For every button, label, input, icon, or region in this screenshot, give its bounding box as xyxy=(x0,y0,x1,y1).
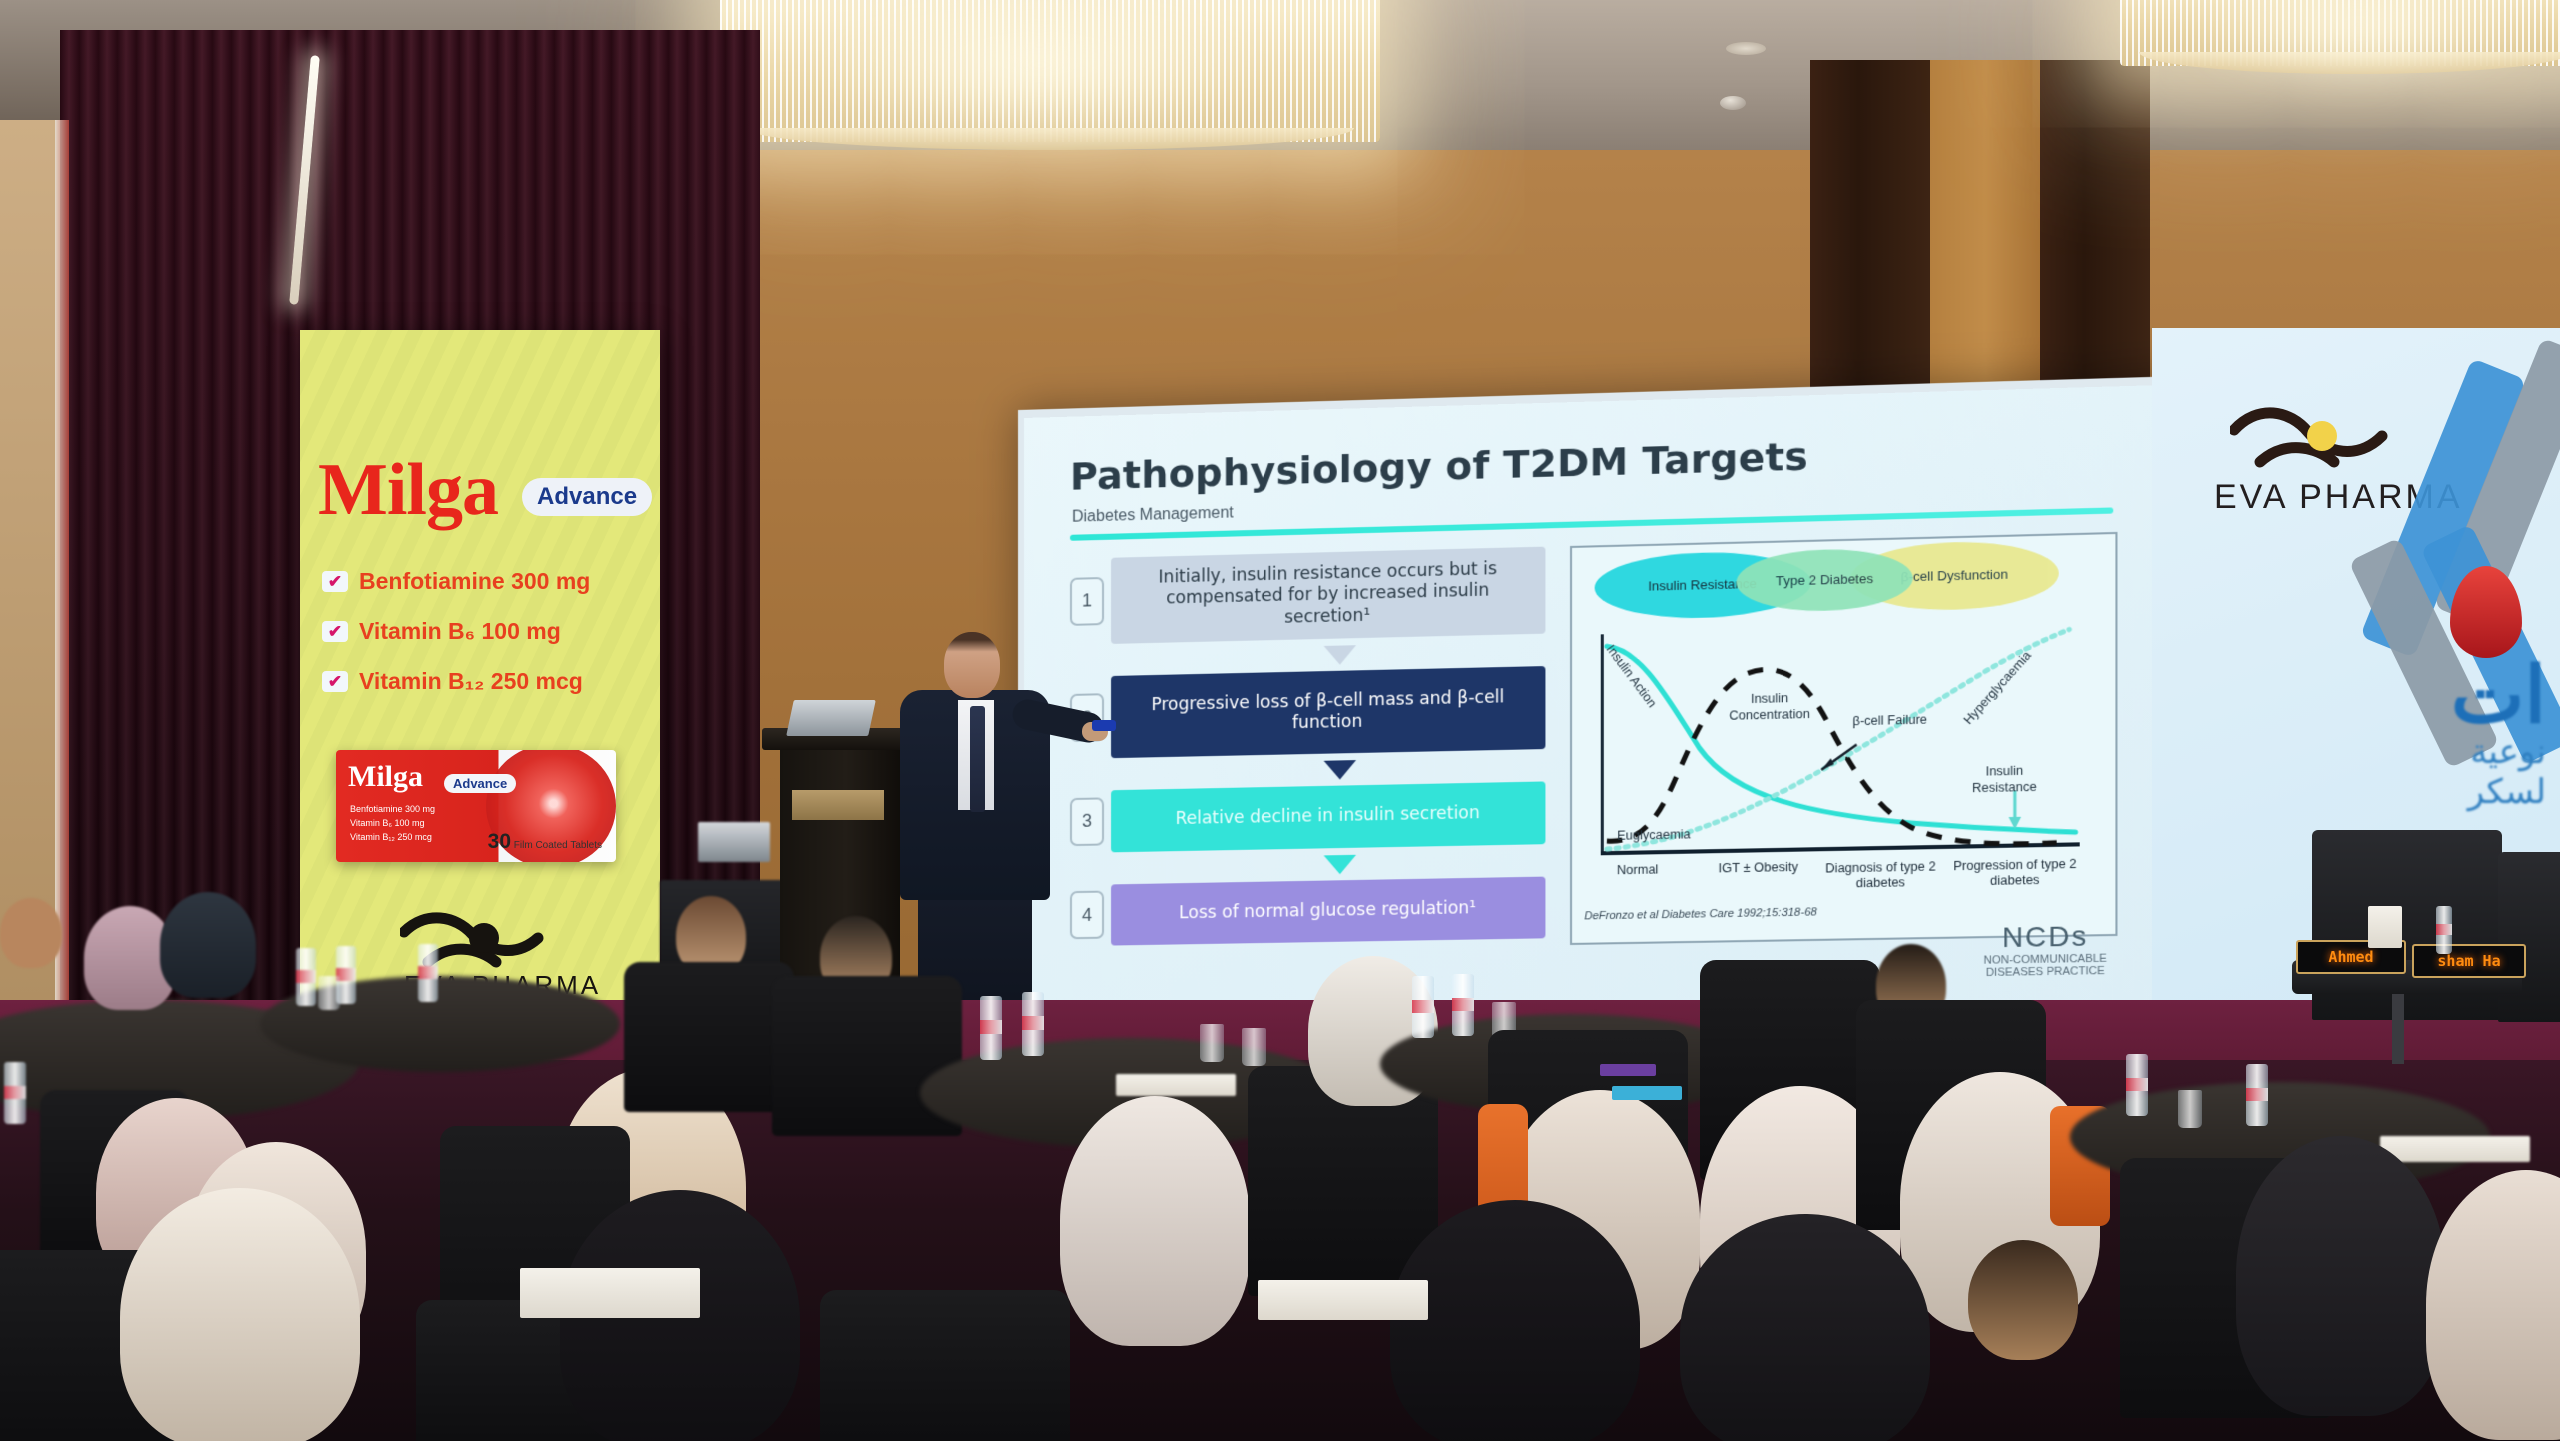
step-number-3: 3 xyxy=(1070,797,1104,846)
chart-curves xyxy=(1601,619,2082,855)
water-glass-5 xyxy=(2178,1090,2202,1128)
ncds-tagline-2: DISEASES PRACTICE xyxy=(1986,965,2105,979)
check-icon-1: ✔ xyxy=(322,571,348,592)
arabic-headline: ات نوعية لسكر xyxy=(2451,658,2546,812)
flow-step-2: 2 Progressive loss of β-cell mass and β-… xyxy=(1070,666,1545,759)
attendee-hijab-front-4 xyxy=(1680,1214,1930,1441)
smoke-detector-icon-2 xyxy=(1720,96,1746,110)
slide-title: Pathophysiology of T2DM Targets xyxy=(1070,434,1808,499)
water-glass-3 xyxy=(1242,1028,1266,1066)
panel-chair-2 xyxy=(2498,852,2560,1022)
x-tick-diagnosis: Diagnosis of type 2 diabetes xyxy=(1823,859,1937,892)
water-bottle-7 xyxy=(1412,976,1434,1038)
pack-line-3: Vitamin B₁₂ 250 mcg xyxy=(350,832,432,842)
ingredient-row-2: ✔ Vitamin B₆ 100 mg xyxy=(322,618,561,645)
flow-arrow-2 xyxy=(1324,760,1356,780)
presenter-tie xyxy=(970,706,985,812)
handout-paper-1 xyxy=(520,1268,700,1318)
panel-table-leg xyxy=(2392,994,2404,1064)
notepad-3 xyxy=(2380,1136,2530,1162)
ingredient-row-3: ✔ Vitamin B₁₂ 250 mcg xyxy=(322,668,583,695)
water-bottle-5 xyxy=(980,996,1002,1060)
water-bottle-10 xyxy=(2246,1064,2268,1126)
ingredient-text-2: Vitamin B₆ 100 mg xyxy=(359,618,561,645)
water-bottle-2 xyxy=(296,948,316,1006)
x-tick-progression: Progression of type 2 diabetes xyxy=(1952,857,2077,890)
ingredient-text-3: Vitamin B₁₂ 250 mcg xyxy=(359,668,583,695)
arabic-line-3: لسكر xyxy=(2451,772,2546,812)
presenter-remote xyxy=(1092,720,1116,731)
audience-chair-front-3 xyxy=(820,1290,1070,1441)
milga-product-pack: Milga Advance Benfotiamine 300 mg Vitami… xyxy=(336,750,616,862)
handout-paper-2 xyxy=(1258,1280,1428,1320)
panel-water-bottle xyxy=(2436,906,2452,954)
notepad-1 xyxy=(1116,1074,1236,1096)
audience-chair-3 xyxy=(624,962,794,1112)
water-bottle-8 xyxy=(1452,974,1474,1036)
ncds-wordmark: NCDs xyxy=(1984,920,2107,955)
flow-arrow-3 xyxy=(1324,854,1356,874)
baseline-label-euglycaemia: Euglycaemia xyxy=(1617,827,1691,843)
water-glass-1 xyxy=(318,976,340,1010)
flow-step-1: 1 Initially, insulin resistance occurs b… xyxy=(1070,547,1545,645)
presenter-head xyxy=(944,632,1000,698)
water-bottle-6 xyxy=(1022,992,1044,1056)
presentation-slide: Pathophysiology of T2DM Targets Diabetes… xyxy=(1024,385,2172,1030)
eva-pharma-logo-icon xyxy=(2230,406,2420,468)
step-number-4: 4 xyxy=(1070,891,1104,940)
tissue-box xyxy=(2368,906,2402,948)
curtain-edge-light xyxy=(55,120,69,1020)
step-text-4: Loss of normal glucose regulation¹ xyxy=(1111,876,1545,945)
pack-variant: Advance xyxy=(444,774,516,793)
ingredient-text-1: Benfotiamine 300 mg xyxy=(359,568,590,595)
water-bottle-1 xyxy=(4,1062,26,1124)
slide-subtitle: Diabetes Management xyxy=(1072,504,1234,526)
attendee-hijab-11 xyxy=(2236,1136,2446,1416)
annotation-bcell-failure: β-cell Failure xyxy=(1852,712,1927,728)
laptop-on-rack xyxy=(698,822,770,862)
check-icon-2: ✔ xyxy=(322,621,348,642)
flow-step-4: 4 Loss of normal glucose regulation¹ xyxy=(1070,876,1545,946)
water-bottle-4 xyxy=(418,944,438,1002)
conference-photo: Pathophysiology of T2DM Targets Diabetes… xyxy=(0,0,2560,1441)
pack-count-unit-2: Tablets xyxy=(570,840,602,851)
attendee-head-1 xyxy=(0,898,62,968)
step-number-1: 1 xyxy=(1070,577,1104,626)
flow-step-3: 3 Relative decline in insulin secretion xyxy=(1070,782,1545,853)
water-bottle-9 xyxy=(2126,1054,2148,1116)
pack-count-number: 30 xyxy=(488,830,511,853)
chart-citation: DeFronzo et al Diabetes Care 1992;15:318… xyxy=(1584,906,1816,922)
attendee-hijab-6 xyxy=(1060,1096,1250,1346)
downlight-2 xyxy=(1726,42,1766,55)
check-icon-3: ✔ xyxy=(322,671,348,692)
step-text-3: Relative decline in insulin secretion xyxy=(1111,782,1545,852)
pack-count-unit-1: Film Coated xyxy=(514,840,568,851)
curve-label-insulin-concentration: Insulin Concentration xyxy=(1726,690,1813,724)
annotation-insulin-resistance: Insulin Resistance xyxy=(1963,763,2047,797)
attendee-hijab-2 xyxy=(160,892,256,998)
pack-count: 30 Film Coated Tablets xyxy=(488,830,602,854)
x-tick-normal: Normal xyxy=(1599,862,1677,879)
pathophysiology-flow: 1 Initially, insulin resistance occurs b… xyxy=(1070,547,1545,953)
pack-line-2: Vitamin B₆ 100 mg xyxy=(350,818,425,828)
attendee-hijab-front-3 xyxy=(1390,1200,1640,1441)
step-text-2: Progressive loss of β-cell mass and β-ce… xyxy=(1111,666,1545,759)
ncds-logo: NCDs NON-COMMUNICABLE DISEASES PRACTICE xyxy=(1984,920,2107,979)
podium-name-plate xyxy=(792,790,884,820)
attendee-hijab-front-1 xyxy=(120,1188,360,1441)
pack-line-1: Benfotiamine 300 mg xyxy=(350,804,435,814)
led-nameplate-right: sham Ha xyxy=(2412,944,2526,978)
attendee-head-5 xyxy=(1968,1240,2078,1360)
ingredient-row-1: ✔ Benfotiamine 300 mg xyxy=(322,568,590,595)
natural-history-chart: β-cell Dysfunction Insulin Resistance Ty… xyxy=(1570,532,2117,945)
advance-badge: Advance xyxy=(522,478,652,516)
water-glass-2 xyxy=(1200,1024,1224,1062)
flow-arrow-1 xyxy=(1324,645,1356,665)
podium-laptop xyxy=(786,700,876,736)
arabic-line-1: ات xyxy=(2451,658,2546,732)
x-tick-igt-obesity: IGT ± Obesity xyxy=(1701,859,1815,876)
pack-brand: Milga xyxy=(348,760,423,794)
milga-wordmark: Milga xyxy=(318,448,498,533)
notebook-blue xyxy=(1612,1086,1682,1100)
step-text-1: Initially, insulin resistance occurs but… xyxy=(1111,547,1545,644)
notebook-purple xyxy=(1600,1064,1656,1076)
